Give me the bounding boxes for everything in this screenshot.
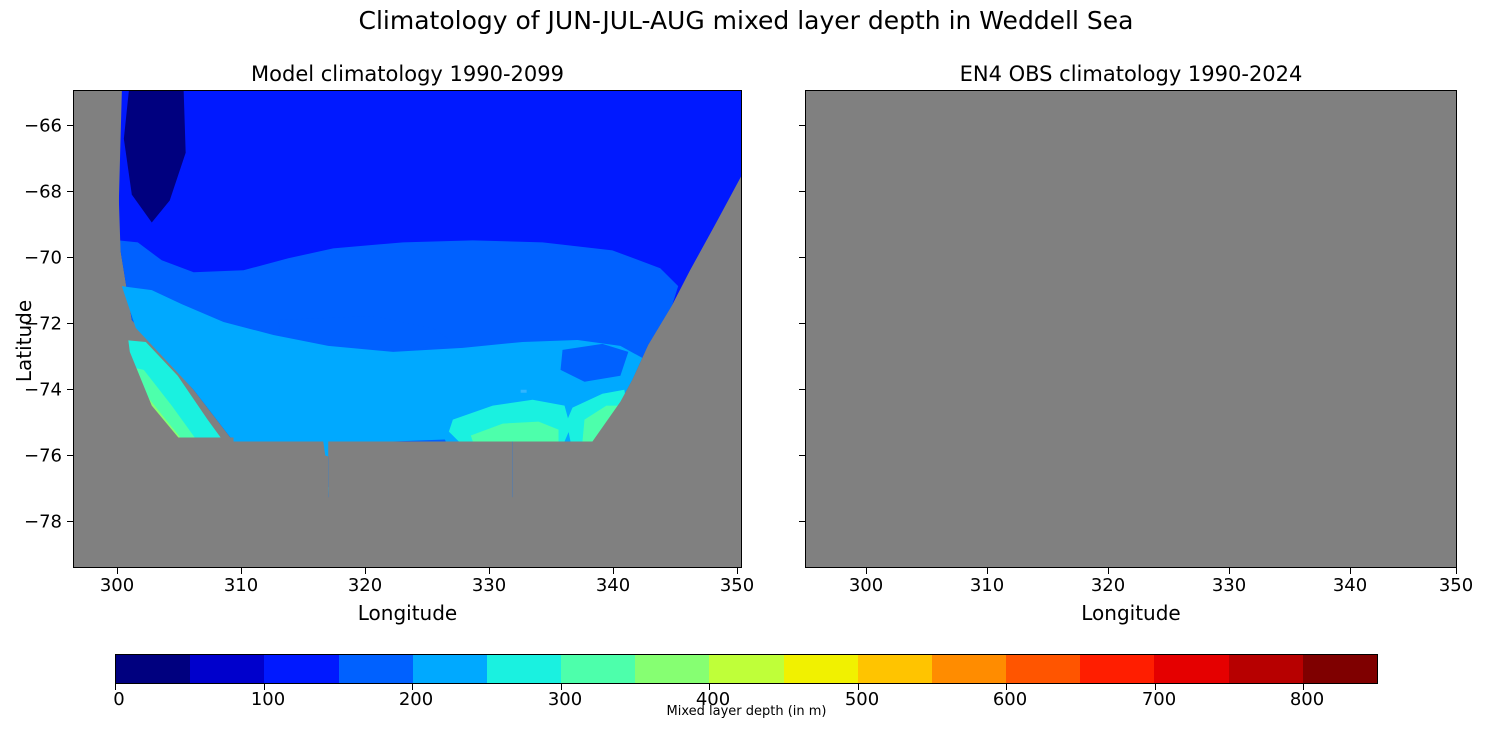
xtick-label-right-330: 330 <box>1212 575 1246 596</box>
colorbar-band <box>1006 655 1080 683</box>
ytick-label-76: −76 <box>10 446 62 467</box>
ytick-mark-right-76 <box>799 455 805 456</box>
colorbar-band <box>1080 655 1154 683</box>
contour-map-model <box>74 91 741 567</box>
contour-cell-faint <box>521 390 527 393</box>
plot-panel-model[interactable] <box>73 90 742 568</box>
xtick-mark-left-300 <box>117 568 118 574</box>
colorbar-band <box>1229 655 1303 683</box>
colorbar-band <box>1154 655 1228 683</box>
ytick-mark-72 <box>67 323 73 324</box>
xtick-mark-left-330 <box>489 568 490 574</box>
xaxis-label-obs: Longitude <box>805 601 1457 625</box>
ytick-mark-right-70 <box>799 257 805 258</box>
colorbar-band <box>932 655 1006 683</box>
xtick-label-left-310: 310 <box>224 575 258 596</box>
ytick-mark-right-72 <box>799 323 805 324</box>
plot-panel-obs[interactable] <box>805 90 1457 568</box>
ytick-mark-right-78 <box>799 521 805 522</box>
panel-title-obs: EN4 OBS climatology 1990-2024 <box>805 62 1457 86</box>
colorbar-band <box>116 655 190 683</box>
colorbar-band <box>413 655 487 683</box>
xtick-label-right-300: 300 <box>849 575 883 596</box>
ytick-mark-74 <box>67 389 73 390</box>
xtick-mark-right-340 <box>1350 568 1351 574</box>
colorbar-band <box>784 655 858 683</box>
colorbar-band <box>858 655 932 683</box>
ytick-mark-78 <box>67 521 73 522</box>
ytick-mark-right-74 <box>799 389 805 390</box>
ytick-label-78: −78 <box>10 512 62 533</box>
colorbar-band <box>264 655 338 683</box>
xtick-mark-right-300 <box>866 568 867 574</box>
colorbar-label: Mixed layer depth (in m) <box>115 704 1378 719</box>
xtick-mark-right-350 <box>1456 568 1457 574</box>
xtick-label-right-320: 320 <box>1091 575 1125 596</box>
colorbar-band <box>339 655 413 683</box>
xtick-mark-right-310 <box>987 568 988 574</box>
ytick-label-68: −68 <box>10 182 62 203</box>
xtick-label-right-350: 350 <box>1439 575 1473 596</box>
ytick-mark-76 <box>67 455 73 456</box>
land-mask-shelf-step <box>74 442 226 532</box>
ytick-mark-68 <box>67 191 73 192</box>
ytick-mark-66 <box>67 125 73 126</box>
xtick-label-right-310: 310 <box>970 575 1004 596</box>
xtick-mark-left-340 <box>613 568 614 574</box>
xtick-label-left-340: 340 <box>596 575 630 596</box>
figure-suptitle: Climatology of JUN-JUL-AUG mixed layer d… <box>0 6 1492 35</box>
colorbar-band <box>709 655 783 683</box>
yaxis-label-model: Latitude <box>12 281 36 401</box>
colorbar-band <box>487 655 561 683</box>
xtick-mark-left-310 <box>241 568 242 574</box>
ytick-label-66: −66 <box>10 116 62 137</box>
ytick-mark-70 <box>67 257 73 258</box>
xtick-mark-right-320 <box>1108 568 1109 574</box>
xaxis-label-model: Longitude <box>73 601 742 625</box>
xtick-label-left-300: 300 <box>100 575 134 596</box>
ytick-label-70: −70 <box>10 248 62 269</box>
colorbar[interactable] <box>115 654 1378 684</box>
figure-canvas: Climatology of JUN-JUL-AUG mixed layer d… <box>0 0 1492 732</box>
colorbar-band <box>1303 655 1377 683</box>
xtick-mark-left-350 <box>737 568 738 574</box>
colorbar-band <box>635 655 709 683</box>
colorbar-band <box>190 655 264 683</box>
xtick-label-right-340: 340 <box>1333 575 1367 596</box>
ytick-mark-right-68 <box>799 191 805 192</box>
xtick-label-left-350: 350 <box>720 575 754 596</box>
panel-title-model: Model climatology 1990-2099 <box>73 62 742 86</box>
colorbar-band <box>561 655 635 683</box>
contour-map-obs <box>806 91 1456 567</box>
xtick-label-left-330: 330 <box>472 575 506 596</box>
ytick-mark-right-66 <box>799 125 805 126</box>
xtick-mark-right-330 <box>1229 568 1230 574</box>
xtick-mark-left-320 <box>365 568 366 574</box>
xtick-label-left-320: 320 <box>348 575 382 596</box>
